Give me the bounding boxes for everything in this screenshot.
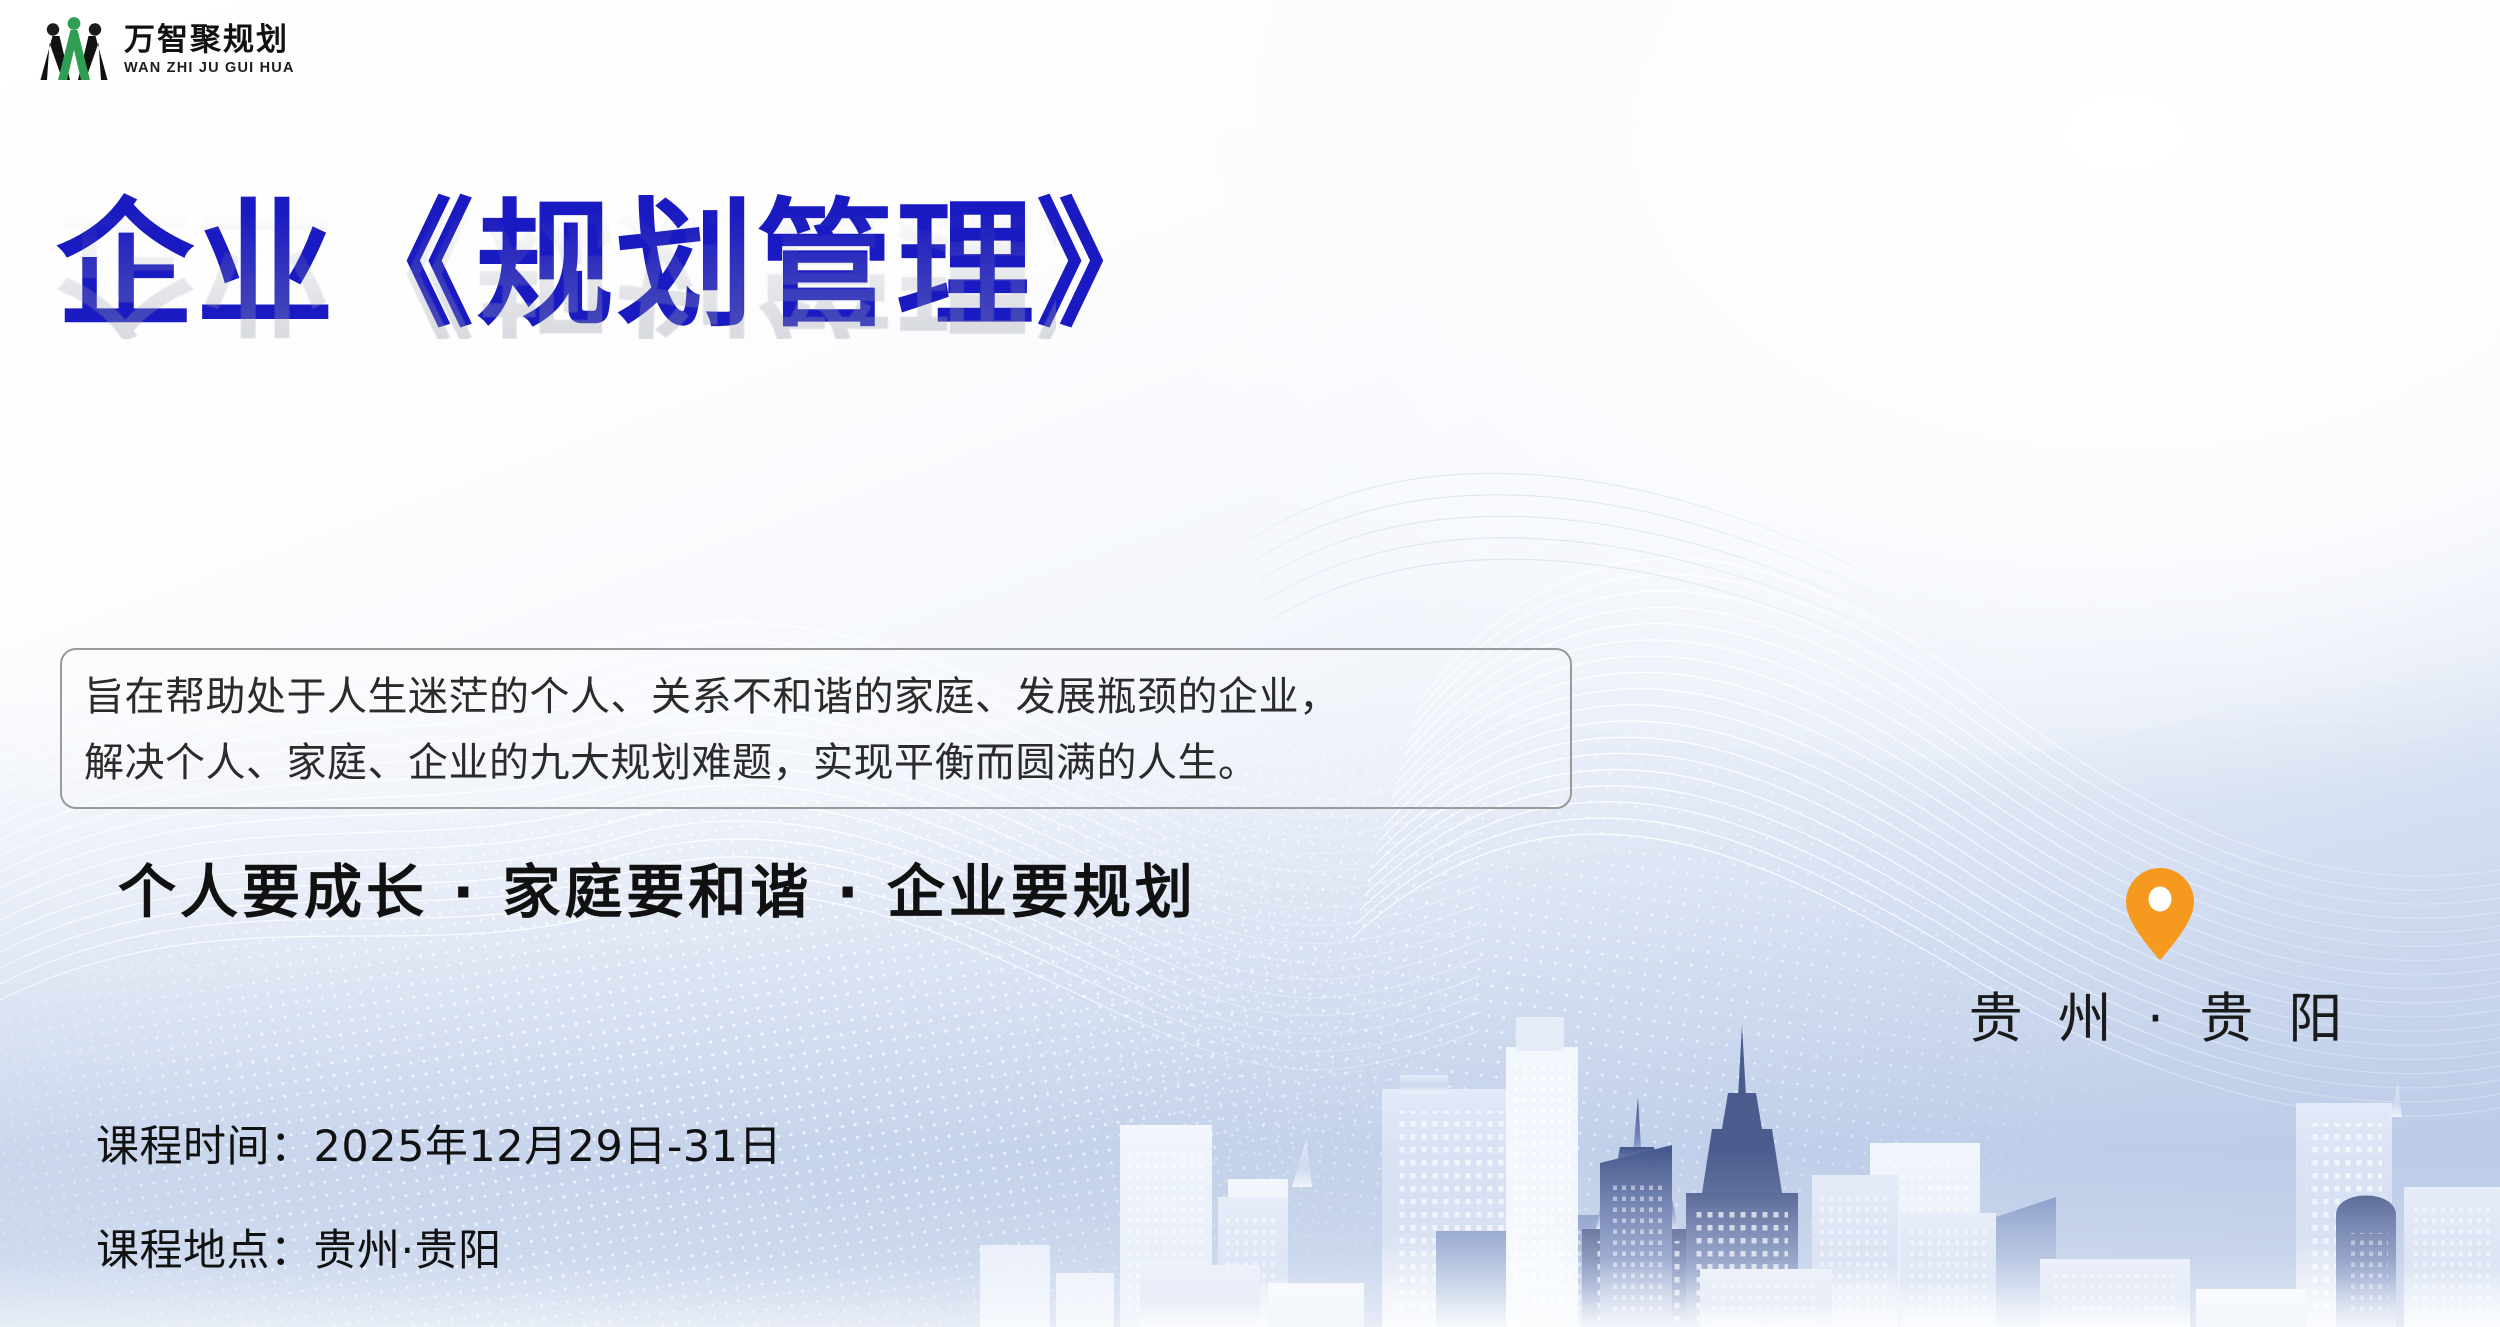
brand-name-pinyin: WAN ZHI JU GUI HUA (124, 60, 295, 76)
location-label: 贵 州 · 贵 阳 (1950, 974, 2370, 1053)
map-pin-icon (2126, 868, 2194, 960)
footer-info: 课程时间：2025年12月29日-31日 课程地点：贵州·贵阳 (96, 1112, 782, 1320)
course-place-line: 课程地点：贵州·贵阳 (96, 1216, 782, 1278)
description-line-2: 解决个人、家庭、企业的九大规划难题，实现平衡而圆满的人生。 (84, 730, 1548, 796)
tagline: 个人要成长 · 家庭要和谐 · 企业要规划 (118, 845, 1197, 929)
main-title-area: 企业《规划管理》 企业《规划管理》 (56, 196, 1056, 480)
description-line-1: 旨在帮助处于人生迷茫的个人、关系不和谐的家庭、发展瓶颈的企业， (84, 664, 1548, 730)
brand-logo[interactable]: 万智聚规划 WAN ZHI JU GUI HUA (38, 14, 295, 84)
poster-canvas: 万智聚规划 WAN ZHI JU GUI HUA 企业《规划管理》 企业《规划管… (0, 0, 2500, 1327)
location-badge: 贵 州 · 贵 阳 (1950, 868, 2370, 1053)
course-time-line: 课程时间：2025年12月29日-31日 (96, 1112, 782, 1174)
three-people-logo-icon (38, 14, 110, 84)
description-box: 旨在帮助处于人生迷茫的个人、关系不和谐的家庭、发展瓶颈的企业， 解决个人、家庭、… (60, 648, 1572, 809)
brand-name-cn: 万智聚规划 (124, 24, 295, 57)
page-title-reflection: 企业《规划管理》 (56, 198, 1056, 339)
